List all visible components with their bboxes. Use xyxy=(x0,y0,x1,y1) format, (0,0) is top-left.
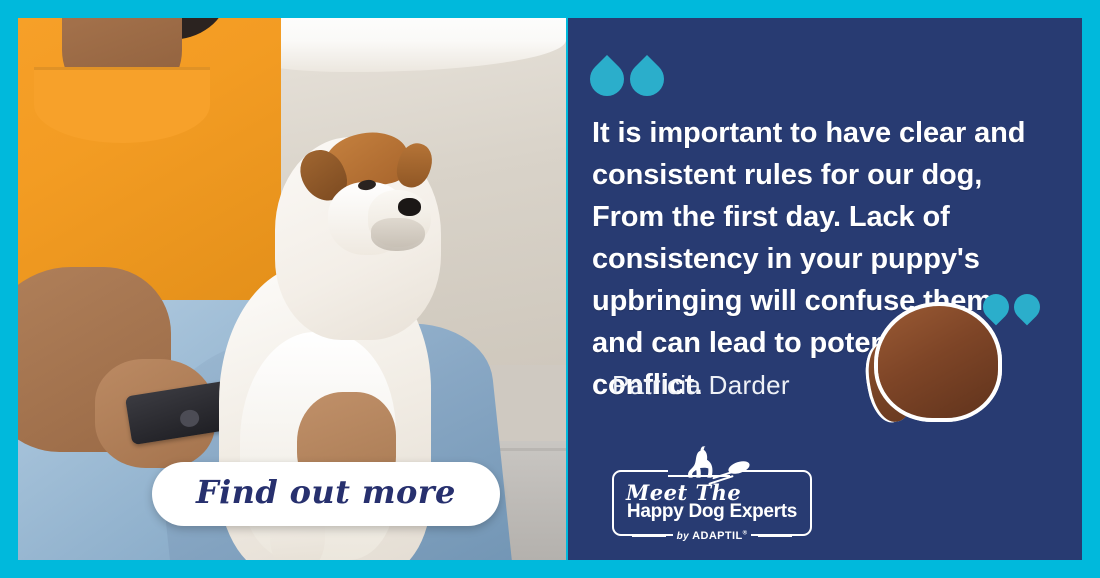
registered-mark: ® xyxy=(743,530,748,536)
brand-logo[interactable]: Meet The Happy Dog Experts by ADAPTIL® xyxy=(612,456,812,536)
brand-name: ADAPTIL xyxy=(692,530,742,542)
expert-photo xyxy=(830,22,1082,560)
terrier-beard xyxy=(371,218,424,250)
byline-prefix: by xyxy=(677,531,689,542)
expert-photo-cutout xyxy=(830,302,1082,560)
logo-byline: by ADAPTIL® xyxy=(612,528,812,544)
promo-banner: Find out more It is important to have cl… xyxy=(0,0,1100,578)
expert-hair xyxy=(878,306,998,418)
terrier-head xyxy=(275,137,441,340)
photo-shirt-collar xyxy=(34,67,209,143)
byline-rule-right xyxy=(758,535,792,537)
quote-panel: It is important to have clear and consis… xyxy=(568,18,1082,560)
find-out-more-button[interactable]: Find out more xyxy=(152,462,500,526)
terrier-nose xyxy=(398,198,421,216)
sitting-dog-icon xyxy=(678,446,722,478)
byline-rule-left xyxy=(632,535,666,537)
logo-bold-line: Happy Dog Experts xyxy=(624,501,800,523)
quote-author: Patricia Darder xyxy=(612,370,790,401)
byline-text: by ADAPTIL® xyxy=(673,530,752,542)
